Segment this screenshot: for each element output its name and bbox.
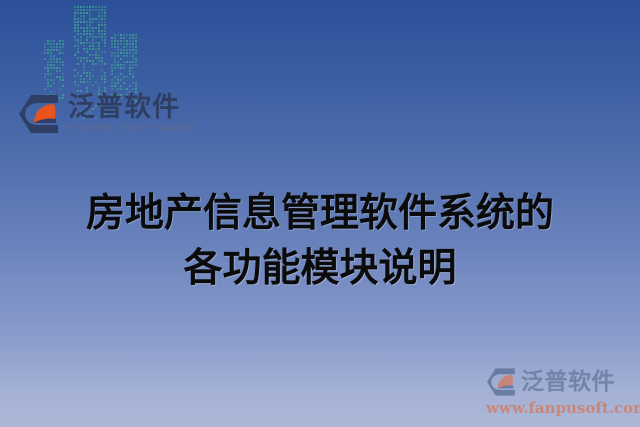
watermark-url: www.fanpusoft.com [486,399,632,417]
page-title-line-2: 各功能模块说明 [0,241,640,296]
slide-canvas: 泛普软件 FANPU SOFTWARE 房地产信息管理软件系统的 各功能模块说明… [0,0,640,427]
brand-name-en: FANPU SOFTWARE [68,124,198,134]
brand-name-cn: 泛普软件 [68,94,198,121]
fanpu-logo-mark [18,93,62,135]
watermark-logo-mark [486,367,518,397]
page-title-line-1: 房地产信息管理软件系统的 [0,186,640,241]
watermark-name-cn: 泛普软件 [521,371,615,394]
brand-wordmark: 泛普软件 FANPU SOFTWARE [68,94,198,134]
pixel-city-skyline [44,2,140,86]
brand-logo: 泛普软件 FANPU SOFTWARE [18,90,198,138]
page-title: 房地产信息管理软件系统的 各功能模块说明 [0,186,640,296]
watermark-logo-row: 泛普软件 [486,366,632,398]
watermark: 泛普软件 www.fanpusoft.com [486,366,632,417]
